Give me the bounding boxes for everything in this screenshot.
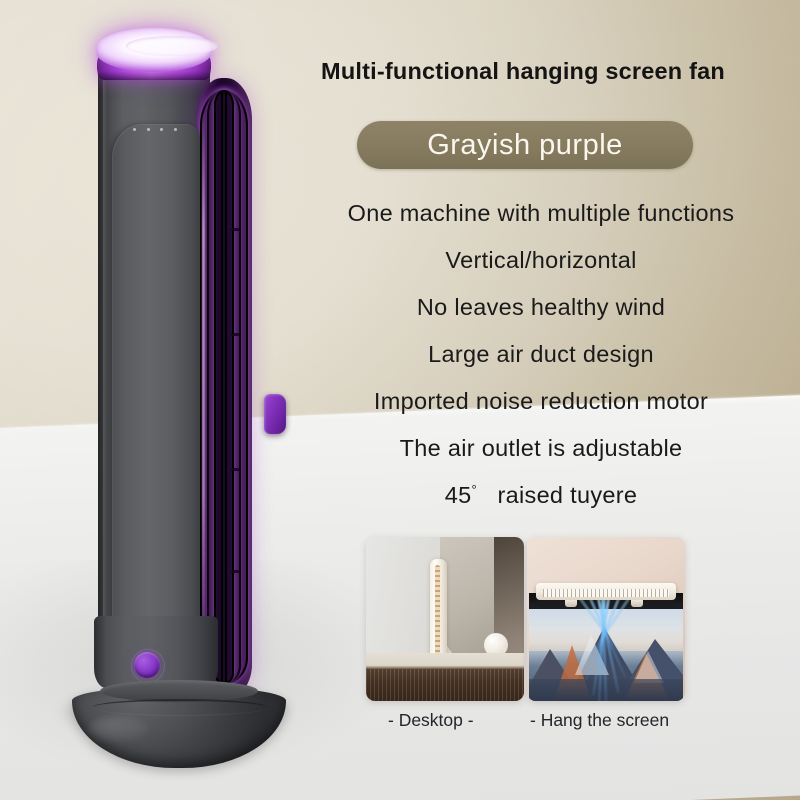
- fan-purple-light-grille: [196, 78, 252, 698]
- base-highlight: [88, 716, 148, 742]
- degree-symbol: °: [472, 482, 478, 497]
- caption-desktop: - Desktop -: [388, 710, 474, 731]
- product-headline: Multi-functional hanging screen fan: [262, 58, 784, 85]
- product-ad-canvas: Multi-functional hanging screen fan Gray…: [0, 0, 800, 800]
- feature-list: One machine with multiple functions Vert…: [296, 190, 786, 519]
- fan-front-panel: [112, 124, 200, 669]
- fan-airflow-slider-knob: [264, 394, 286, 434]
- color-variant-badge[interactable]: Grayish purple: [357, 121, 693, 169]
- feature-item: Imported noise reduction motor: [296, 378, 786, 425]
- fan-vent-dots: [133, 127, 177, 132]
- fan-pedestal-base: [72, 686, 286, 774]
- base-seam-line: [92, 699, 268, 716]
- caption-hang-the-screen: - Hang the screen: [530, 710, 669, 731]
- feature-item-angle: 45° raised tuyere: [296, 472, 786, 519]
- power-button-icon: [134, 652, 160, 678]
- desktop-scene-fan-grille: [435, 565, 440, 663]
- angle-value: 45: [445, 482, 472, 508]
- fan-illuminated-top-cap: [96, 28, 212, 72]
- thumbnail-hang-the-screen[interactable]: [527, 537, 685, 701]
- feature-item: One machine with multiple functions: [296, 190, 786, 237]
- hang-scene-airflow-rays: [527, 537, 685, 701]
- desktop-scene-desk-grain: [366, 669, 524, 701]
- feature-item: No leaves healthy wind: [296, 284, 786, 331]
- feature-item: Large air duct design: [296, 331, 786, 378]
- thumbnail-desktop[interactable]: [366, 537, 524, 701]
- hang-scene-fan-clip-left: [565, 600, 577, 607]
- fan-top-inner-light: [126, 36, 218, 56]
- color-variant-label: Grayish purple: [427, 129, 623, 162]
- angle-suffix: raised tuyere: [498, 482, 638, 508]
- tower-fan-product-image: [78, 26, 278, 746]
- hang-scene-fan-clip-right: [631, 600, 643, 607]
- feature-item: The air outlet is adjustable: [296, 425, 786, 472]
- grille-highlight: [202, 108, 205, 658]
- feature-item: Vertical/horizontal: [296, 237, 786, 284]
- hang-scene-fan-vents: [543, 589, 669, 597]
